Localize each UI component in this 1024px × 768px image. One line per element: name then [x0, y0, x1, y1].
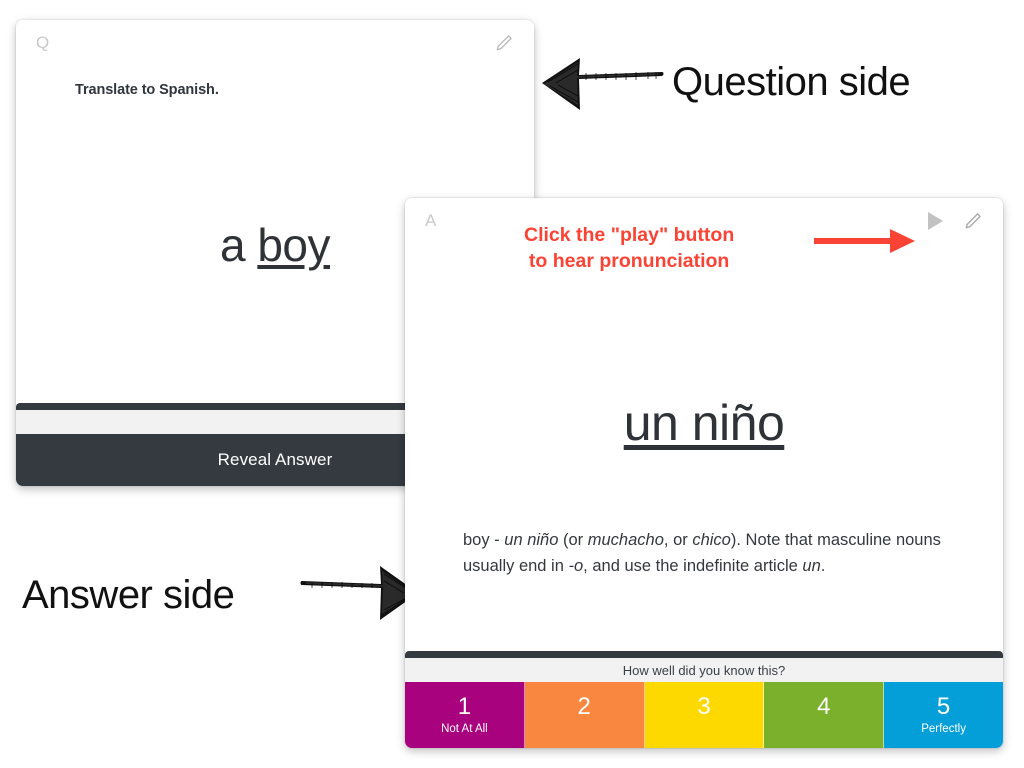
explanation-part-2: (or	[558, 531, 587, 549]
question-side-letter: Q	[36, 33, 50, 53]
rating-cell-3[interactable]: 3	[645, 682, 765, 748]
explanation-part-3: , or	[664, 531, 692, 549]
rating-prompt: How well did you know this?	[405, 658, 1003, 682]
explanation-part-5: , and use the indefinite article	[583, 557, 802, 575]
rating-label: Perfectly	[921, 723, 966, 735]
rating-number: 4	[817, 695, 830, 719]
answer-term-wrapper: un niño	[405, 394, 1003, 452]
red-arrow-icon	[812, 226, 916, 256]
explanation-part-6: .	[821, 557, 826, 575]
sketch-arrow-left-icon	[538, 50, 666, 122]
explanation-italic-2: muchacho	[588, 531, 664, 549]
explanation-italic-1: un niño	[504, 531, 558, 549]
explanation-italic-5: un	[802, 557, 820, 575]
answer-card-body: un niño boy - un niño (or muchacho, or c…	[405, 244, 1003, 651]
annotation-play-hint: Click the "play" button to hear pronunci…	[524, 222, 734, 275]
annotation-answer-side: Answer side	[22, 573, 234, 618]
question-header-icons	[494, 33, 514, 53]
question-term-underlined: boy	[257, 219, 330, 271]
rating-cell-4[interactable]: 4	[764, 682, 884, 748]
rating-cell-5[interactable]: 5Perfectly	[884, 682, 1003, 748]
annotation-play-hint-line2: to hear pronunciation	[524, 248, 734, 274]
rating-number: 2	[578, 695, 591, 719]
rating-row: 1Not At All2 3 4 5Perfectly	[405, 682, 1003, 748]
pencil-icon[interactable]	[963, 211, 983, 231]
answer-side-letter: A	[425, 211, 437, 231]
sketch-arrow-right-icon	[300, 562, 422, 624]
question-term: a boy	[220, 219, 330, 271]
answer-term-underlined: un niño	[624, 395, 785, 451]
play-icon[interactable]	[925, 210, 945, 232]
answer-header-icons	[925, 210, 983, 232]
explanation-italic-3: chico	[692, 531, 731, 549]
annotation-question-side: Question side	[672, 60, 910, 105]
question-card-header: Q	[16, 20, 534, 66]
rating-label: Not At All	[441, 723, 488, 735]
question-prompt: Translate to Spanish.	[75, 82, 510, 98]
annotation-play-hint-line1: Click the "play" button	[524, 222, 734, 248]
answer-card: A un niño boy - un niño (or muchacho, or…	[405, 198, 1003, 748]
pencil-icon[interactable]	[494, 33, 514, 53]
explanation-italic-4: -o	[569, 557, 584, 575]
answer-term: un niño	[624, 395, 785, 451]
question-term-plain: a	[220, 219, 257, 271]
rating-cell-1[interactable]: 1Not At All	[405, 682, 525, 748]
rating-number: 5	[937, 695, 950, 719]
rating-cell-2[interactable]: 2	[525, 682, 645, 748]
answer-card-divider	[405, 651, 1003, 658]
answer-explanation: boy - un niño (or muchacho, or chico). N…	[463, 528, 948, 579]
rating-number: 3	[697, 695, 710, 719]
explanation-part-1: boy -	[463, 531, 504, 549]
rating-number: 1	[458, 695, 471, 719]
